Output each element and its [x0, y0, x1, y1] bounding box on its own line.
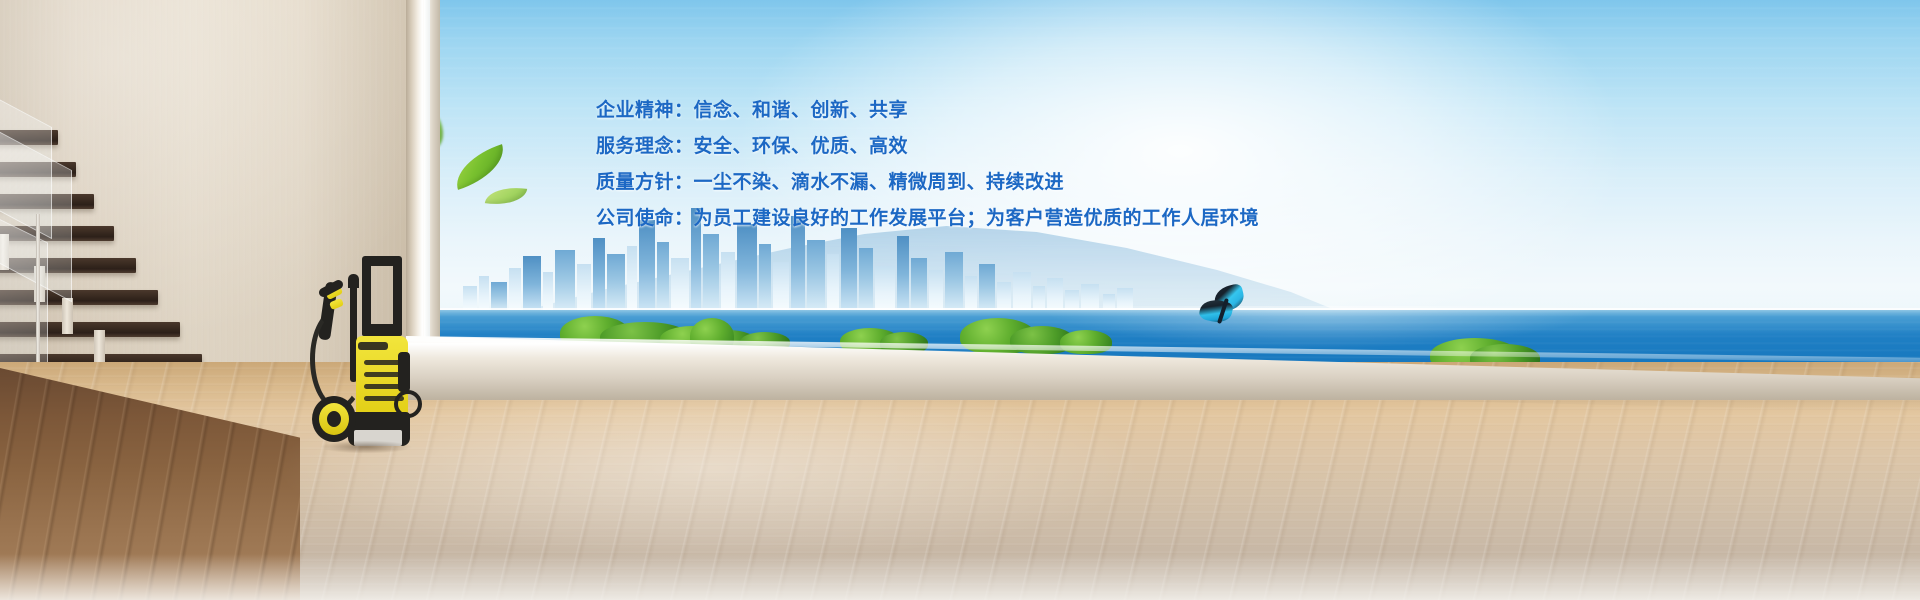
butterfly: [1196, 286, 1252, 332]
stair-support: [94, 330, 105, 366]
slogan-block: 企业精神：信念、和谐、创新、共享 服务理念：安全、环保、优质、高效 质量方针：一…: [596, 92, 1376, 236]
slogan-line-service: 服务理念：安全、环保、优质、高效: [596, 128, 1376, 164]
banner-root: 企业精神：信念、和谐、创新、共享 服务理念：安全、环保、优质、高效 质量方针：一…: [0, 0, 1920, 600]
stair-support: [62, 298, 73, 334]
slogan-line-quality: 质量方针：一尘不染、滴水不漏、精微周到、持续改进: [596, 164, 1376, 200]
floor-bottom-fade: [0, 554, 1920, 600]
slogan-line-spirit: 企业精神：信念、和谐、创新、共享: [596, 92, 1376, 128]
slogan-line-mission: 公司使命：为员工建设良好的工作发展平台；为客户营造优质的工作人居环境: [596, 200, 1376, 236]
pressure-washer: [306, 256, 428, 456]
